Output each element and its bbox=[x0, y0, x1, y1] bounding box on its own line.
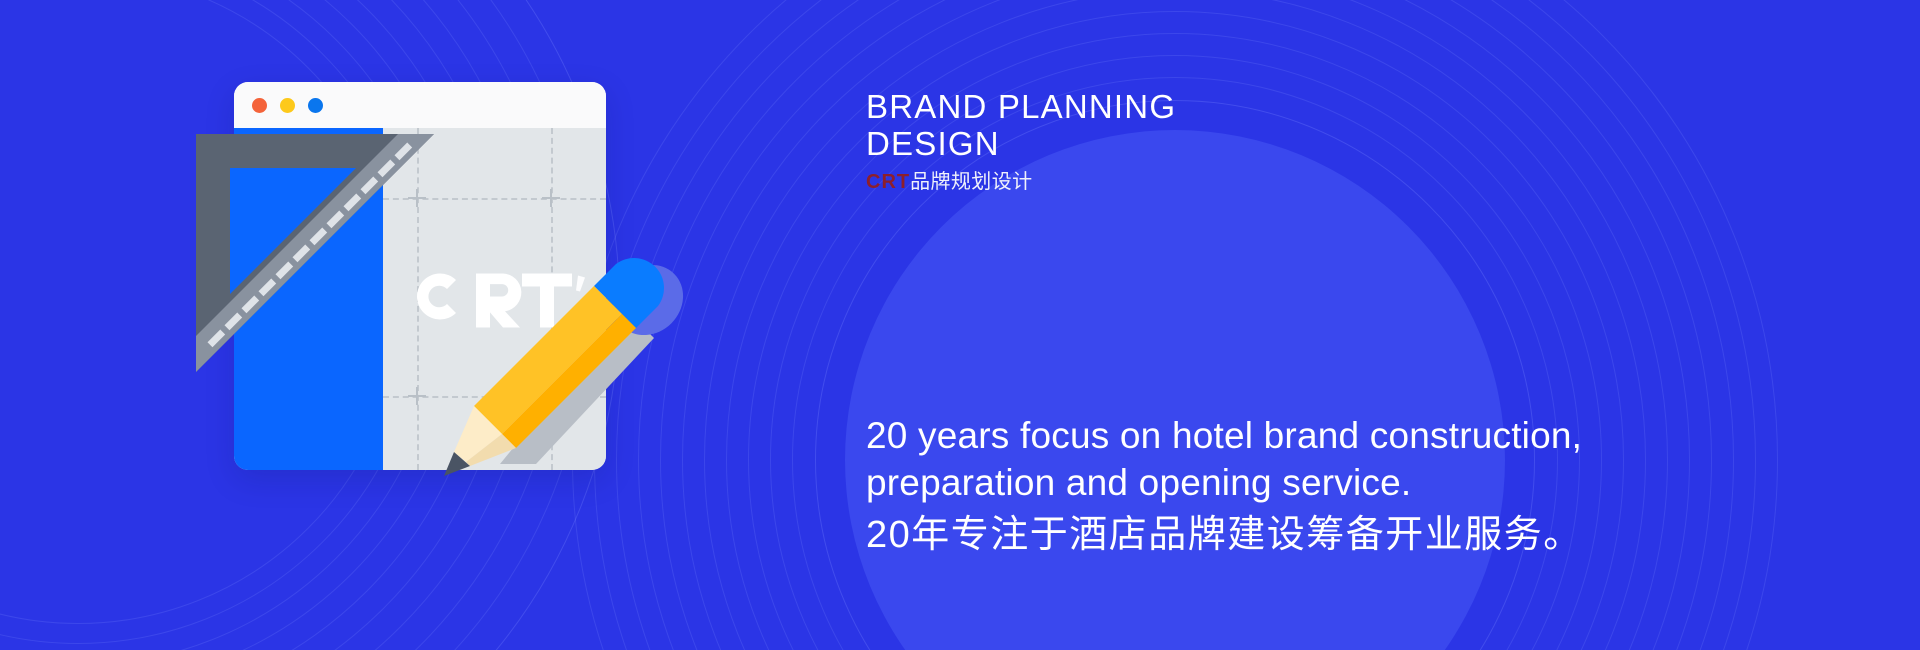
close-dot bbox=[252, 98, 267, 113]
tagline-english: 20 years focus on hotel brand constructi… bbox=[866, 412, 1686, 506]
pencil bbox=[440, 226, 690, 486]
brand-name: CRT bbox=[866, 171, 910, 193]
page-title: BRAND PLANNINGDESIGN bbox=[866, 88, 1176, 162]
copy-block: BRAND PLANNINGDESIGN CRT品牌规划设计 20 years … bbox=[866, 0, 1866, 650]
triangle-ruler bbox=[190, 128, 440, 378]
subheading: CRT品牌规划设计 bbox=[866, 170, 1033, 194]
guide-cross-bottom-left bbox=[408, 387, 426, 405]
headline-line-2: DESIGN bbox=[866, 125, 1000, 162]
headline-line-1: BRAND PLANNING bbox=[866, 88, 1176, 125]
ruler-inner-hole bbox=[230, 168, 356, 294]
triangle-ruler-svg bbox=[190, 128, 440, 378]
brand-design-illustration bbox=[190, 66, 690, 486]
guide-cross-top-right bbox=[542, 189, 560, 207]
brand-banner: BRAND PLANNINGDESIGN CRT品牌规划设计 20 years … bbox=[0, 0, 1920, 650]
subheading-chinese: 品牌规划设计 bbox=[910, 171, 1032, 193]
pencil-svg bbox=[440, 226, 690, 486]
maximize-dot bbox=[308, 98, 323, 113]
tagline-chinese: 20年专注于酒店品牌建设筹备开业服务。 bbox=[866, 512, 1583, 558]
minimize-dot bbox=[280, 98, 295, 113]
browser-title-bar bbox=[234, 82, 606, 128]
